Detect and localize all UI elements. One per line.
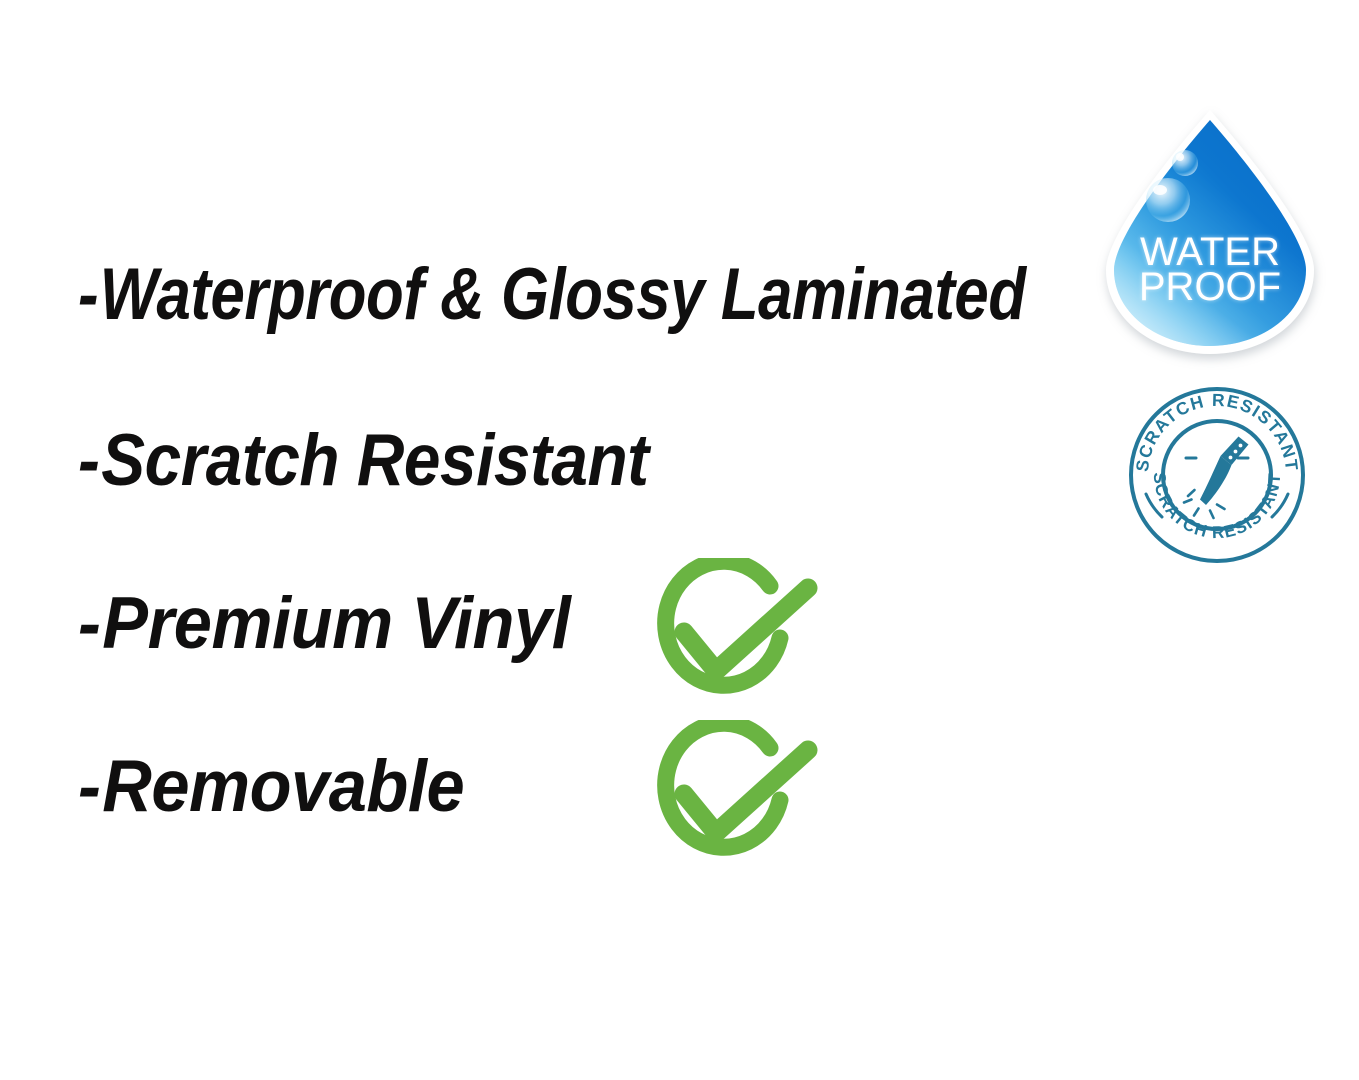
feature-item-premium-vinyl: -Premium Vinyl xyxy=(78,587,570,660)
feature-list-graphic: -Waterproof & Glossy Laminated -Scratch … xyxy=(0,0,1359,1080)
feature-dash: - xyxy=(78,587,100,660)
bubble-large xyxy=(1146,178,1190,222)
feature-label: Premium Vinyl xyxy=(102,583,570,664)
scratch-resistant-seal: SCRATCH RESISTANT SCRATCH RESISTANT xyxy=(1128,386,1306,564)
checkmark-removable xyxy=(640,720,836,878)
circle-check-icon xyxy=(640,558,836,716)
feature-dash: - xyxy=(78,424,99,497)
feature-item-waterproof: -Waterproof & Glossy Laminated xyxy=(78,258,1026,331)
feature-dash: - xyxy=(78,750,100,823)
feature-dash: - xyxy=(78,258,98,331)
circle-check-icon xyxy=(640,720,836,878)
waterproof-badge: WATER PROOF xyxy=(1100,108,1320,356)
bubble-small xyxy=(1172,150,1198,176)
water-drop-icon xyxy=(1100,108,1320,356)
knife-icon xyxy=(1184,437,1249,519)
feature-label: Removable xyxy=(102,746,464,827)
feature-label: Scratch Resistant xyxy=(101,420,648,501)
scratch-text-top: SCRATCH RESISTANT xyxy=(1132,390,1302,473)
feature-item-scratch-resistant: -Scratch Resistant xyxy=(78,424,649,497)
feature-label: Waterproof & Glossy Laminated xyxy=(100,254,1026,335)
scratch-resistant-badge: SCRATCH RESISTANT SCRATCH RESISTANT xyxy=(1128,386,1306,564)
feature-item-removable: -Removable xyxy=(78,750,464,823)
checkmark-premium-vinyl xyxy=(640,558,836,716)
